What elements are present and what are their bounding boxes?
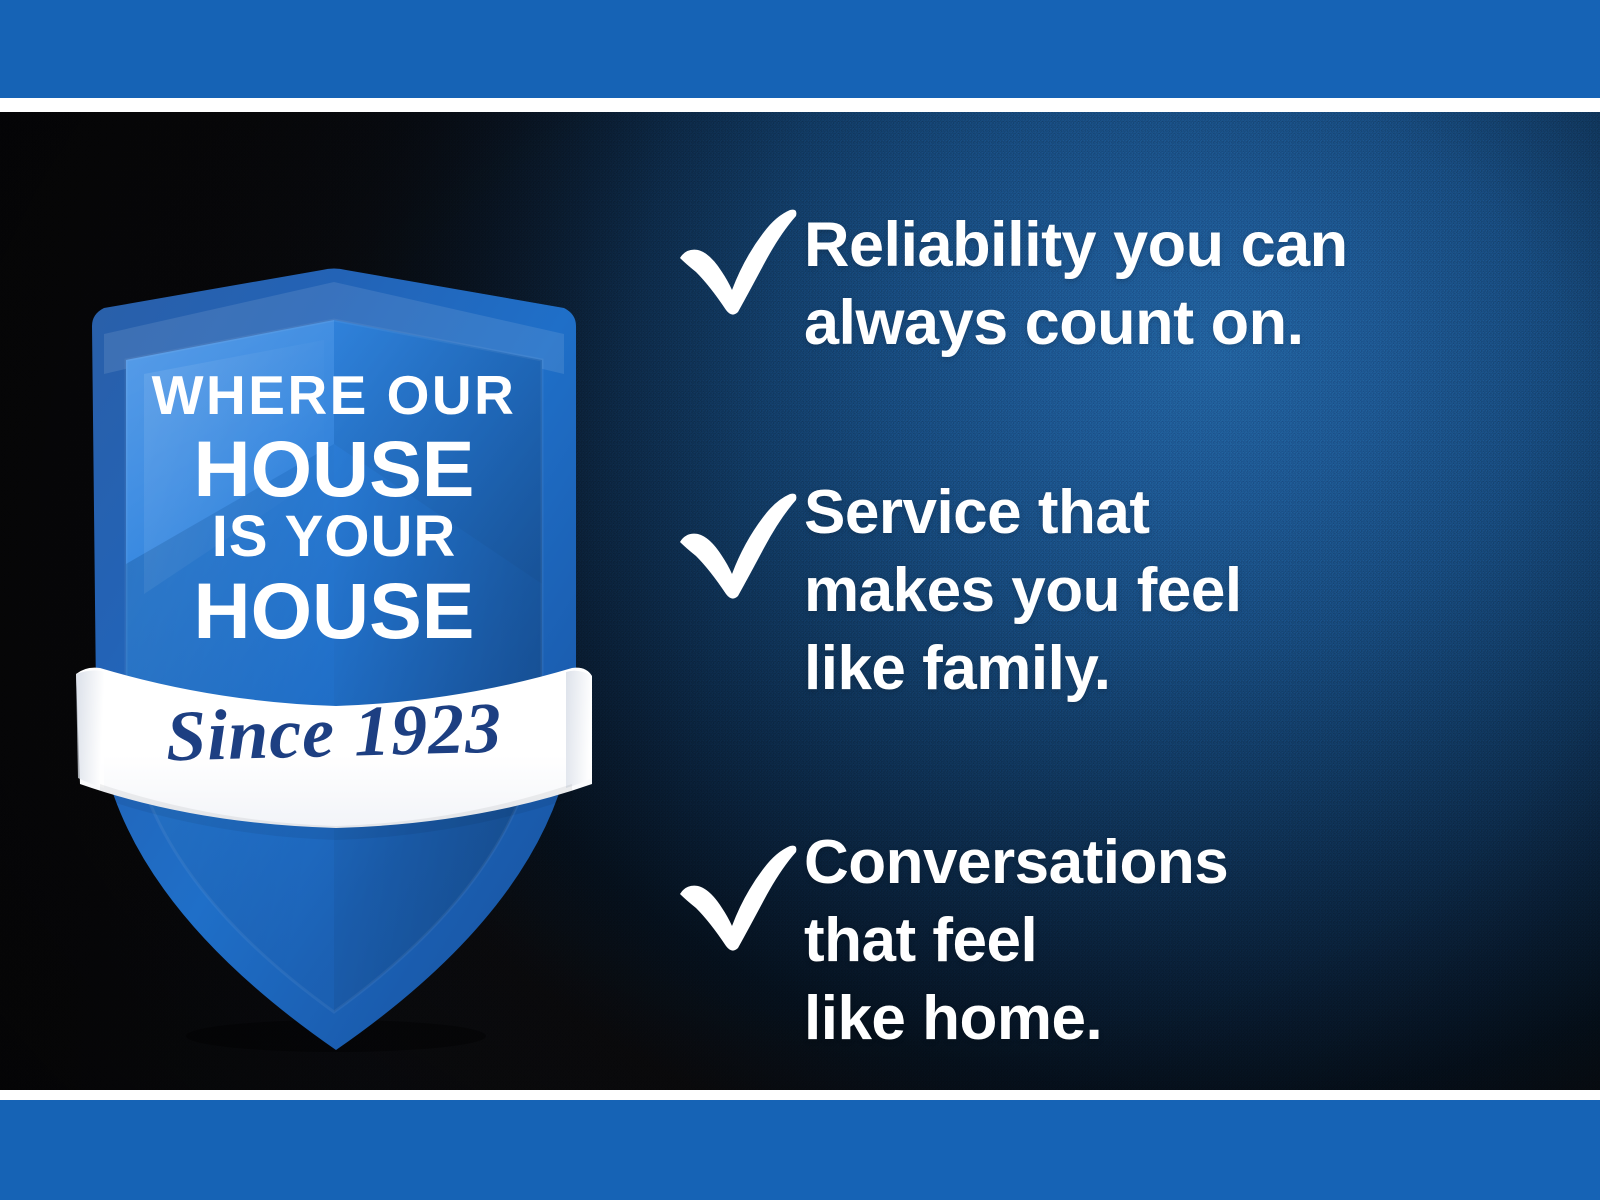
benefit-line: makes you feel bbox=[804, 552, 1552, 630]
benefit-line: that feel bbox=[804, 902, 1552, 980]
bottom-brand-bar bbox=[0, 1100, 1600, 1200]
benefit-text: Reliability you can always count on. bbox=[804, 200, 1552, 362]
shield-badge: WHERE OUR HOUSE IS YOUR HOUSE Since 1923 bbox=[74, 264, 594, 1054]
benefit-item: Conversations that feel like home. bbox=[672, 818, 1552, 1058]
shield-icon bbox=[74, 264, 594, 1054]
benefit-line: Reliability you can bbox=[804, 206, 1552, 284]
benefit-line: Conversations bbox=[804, 824, 1552, 902]
checkmark-icon bbox=[672, 490, 804, 602]
benefit-text: Conversations that feel like home. bbox=[804, 818, 1552, 1058]
benefit-item: Reliability you can always count on. bbox=[672, 200, 1552, 362]
benefit-text: Service that makes you feel like family. bbox=[804, 468, 1552, 708]
ribbon-fold-left bbox=[76, 670, 104, 788]
promo-poster: WHERE OUR HOUSE IS YOUR HOUSE Since 1923… bbox=[0, 0, 1600, 1200]
benefit-line: always count on. bbox=[804, 284, 1552, 362]
ribbon-fold-right bbox=[566, 671, 592, 788]
checkmark-icon bbox=[672, 842, 804, 954]
checkmark-icon bbox=[672, 206, 804, 318]
benefit-line: Service that bbox=[804, 474, 1552, 552]
benefit-line: like family. bbox=[804, 630, 1552, 708]
benefit-item: Service that makes you feel like family. bbox=[672, 468, 1552, 708]
benefits-list: Reliability you can always count on. Ser… bbox=[672, 200, 1552, 1058]
benefit-line: like home. bbox=[804, 980, 1552, 1058]
main-panel: WHERE OUR HOUSE IS YOUR HOUSE Since 1923… bbox=[0, 112, 1600, 1090]
top-brand-bar bbox=[0, 0, 1600, 98]
